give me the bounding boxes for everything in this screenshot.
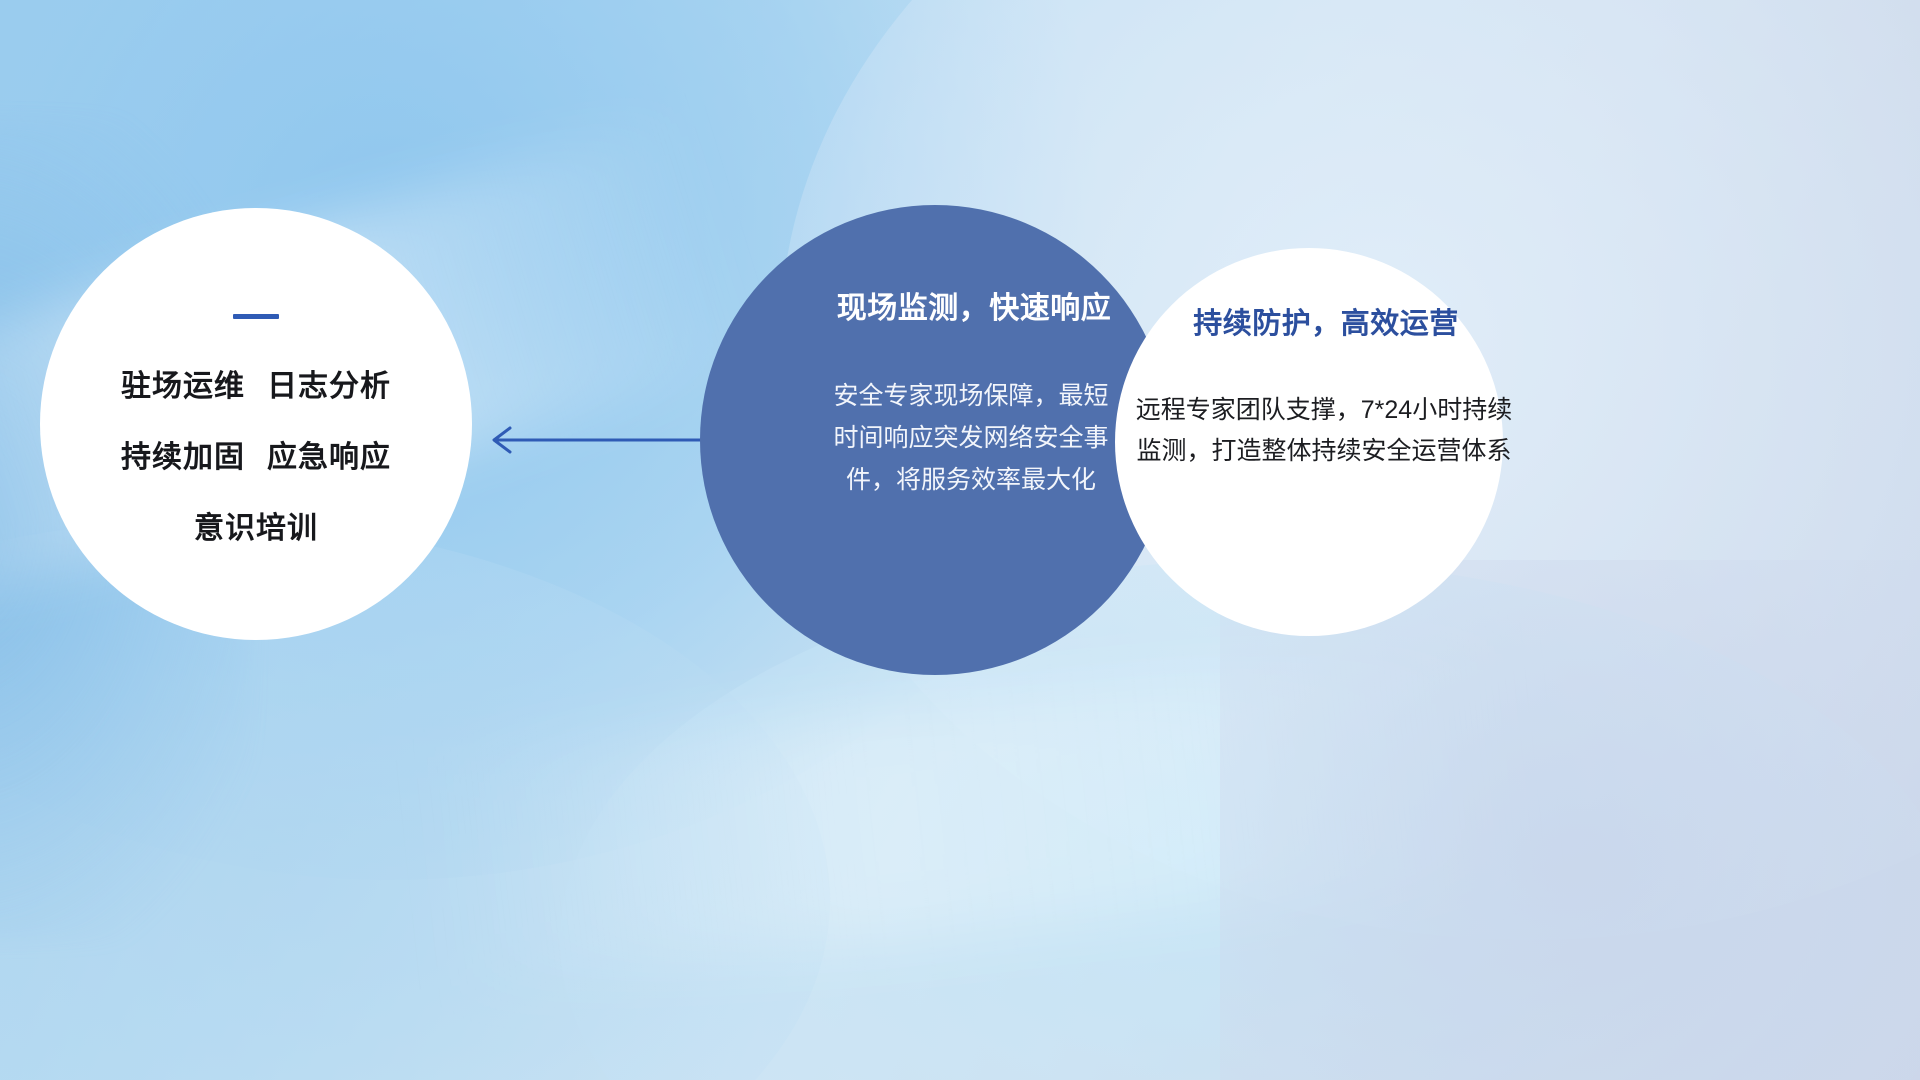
capability-circle-left: 驻场运维日志分析 持续加固应急响应 意识培训 [40, 208, 472, 640]
accent-dash [233, 314, 279, 319]
capability-tag: 日志分析 [267, 370, 391, 403]
circle-title: 现场监测，快速响应 [837, 283, 1112, 327]
capability-list: 驻场运维日志分析 持续加固应急响应 意识培训 [121, 361, 391, 547]
capability-tag: 驻场运维 [121, 370, 245, 403]
slide-canvas: 驻场运维日志分析 持续加固应急响应 意识培训 现场监测，快速响应 安全专家现场保… [0, 0, 1920, 1080]
circle-body-text: 安全专家现场保障，最短时间响应突发网络安全事件，将服务效率最大化 [825, 375, 1117, 501]
background-vignette-bottom-right [1220, 560, 1920, 1080]
flow-arrow-icon [470, 408, 720, 472]
capability-circle-right: 持续防护，高效运营 远程专家团队支撑，7*24小时持续监测，打造整体持续安全运营… [1115, 248, 1503, 636]
list-item: 意识培训 [194, 503, 318, 547]
capability-circle-middle: 现场监测，快速响应 安全专家现场保障，最短时间响应突发网络安全事件，将服务效率最… [700, 205, 1170, 675]
list-item: 驻场运维日志分析 [121, 361, 391, 405]
circle-body-text: 远程专家团队支撑，7*24小时持续监测，打造整体持续安全运营体系 [1135, 390, 1513, 472]
capability-tag: 持续加固 [121, 441, 245, 474]
capability-tag: 应急响应 [267, 441, 391, 474]
circle-title: 持续防护，高效运营 [1193, 300, 1459, 342]
list-item: 持续加固应急响应 [121, 432, 391, 476]
capability-tag: 意识培训 [194, 512, 318, 545]
